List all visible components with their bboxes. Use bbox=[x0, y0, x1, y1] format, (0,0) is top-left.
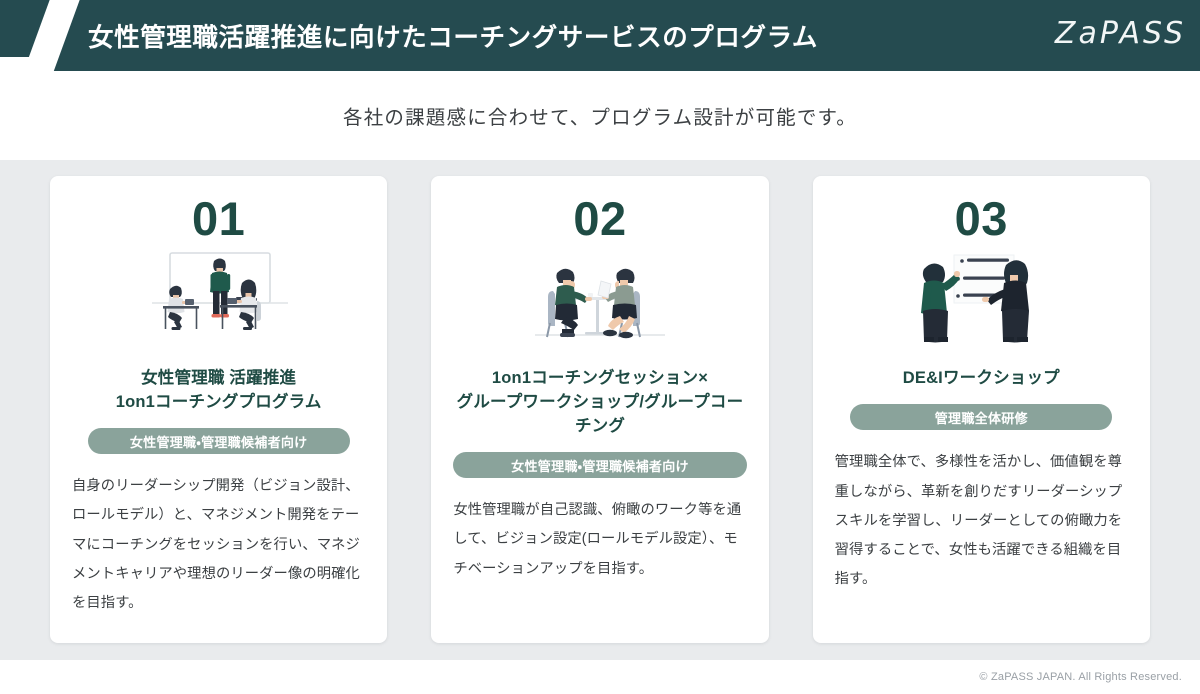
card-title: 女性管理職 活躍推進 1on1コーチングプログラム bbox=[116, 367, 322, 415]
program-card-01[interactable]: 01 bbox=[50, 176, 387, 643]
two-people-at-table-icon bbox=[525, 249, 675, 353]
program-card-list: 01 bbox=[50, 176, 1150, 643]
program-card-02[interactable]: 02 bbox=[431, 176, 768, 643]
subtitle-text: 各社の課題感に合わせて、プログラム設計が可能です。 bbox=[343, 101, 857, 130]
card-number: 03 bbox=[955, 194, 1008, 243]
card-number: 01 bbox=[192, 194, 245, 243]
card-description: 女性管理職が自己認識、俯瞰のワーク等を通して、ビジョン設定(ロールモデル設定）、… bbox=[453, 496, 746, 584]
slide-header: 女性管理職活躍推進に向けたコーチングサービスのプログラム ZaPASS bbox=[0, 0, 1200, 71]
card-title: DE&Iワークショップ bbox=[903, 367, 1060, 391]
zapass-logo: ZaPASS bbox=[1055, 0, 1186, 66]
card-description: 自身のリーダーシップ開発（ビジョン設計、ロールモデル）と、マネジメント開発をテー… bbox=[72, 472, 365, 618]
slide-footer: © ZaPASS JAPAN. All Rights Reserved. bbox=[0, 660, 1200, 694]
card-title-line-2: グループワークショップ/グループコーチング bbox=[453, 391, 746, 439]
card-title-line-2: 1on1コーチングプログラム bbox=[116, 391, 322, 415]
header-left-notch-decoration bbox=[0, 57, 44, 71]
card-target-badge: 女性管理職・管理職候補者向け bbox=[453, 452, 746, 478]
copyright-text: © ZaPASS JAPAN. All Rights Reserved. bbox=[979, 671, 1182, 683]
program-card-03[interactable]: 03 bbox=[813, 176, 1150, 643]
card-title: 1on1コーチングセッション× グループワークショップ/グループコーチング bbox=[453, 367, 746, 439]
card-title-line-1: 女性管理職 活躍推進 bbox=[116, 367, 322, 391]
subtitle-band: 各社の課題感に合わせて、プログラム設計が可能です。 bbox=[0, 71, 1200, 160]
card-description: 管理職全体で、多様性を活かし、価値観を尊重しながら、革新を創りだすリーダーシップ… bbox=[835, 448, 1128, 594]
card-target-badge: 管理職全体研修 bbox=[850, 404, 1112, 430]
card-title-line-1: DE&Iワークショップ bbox=[903, 367, 1060, 391]
classroom-presentation-icon bbox=[144, 249, 294, 353]
card-target-badge: 女性管理職・管理職候補者向け bbox=[88, 428, 350, 454]
card-title-line-1: 1on1コーチングセッション× bbox=[453, 367, 746, 391]
page-title: 女性管理職活躍推進に向けたコーチングサービスのプログラム bbox=[88, 0, 818, 71]
whiteboard-workshop-icon bbox=[906, 249, 1056, 353]
card-number: 02 bbox=[573, 194, 626, 243]
content-area: 01 bbox=[0, 160, 1200, 694]
